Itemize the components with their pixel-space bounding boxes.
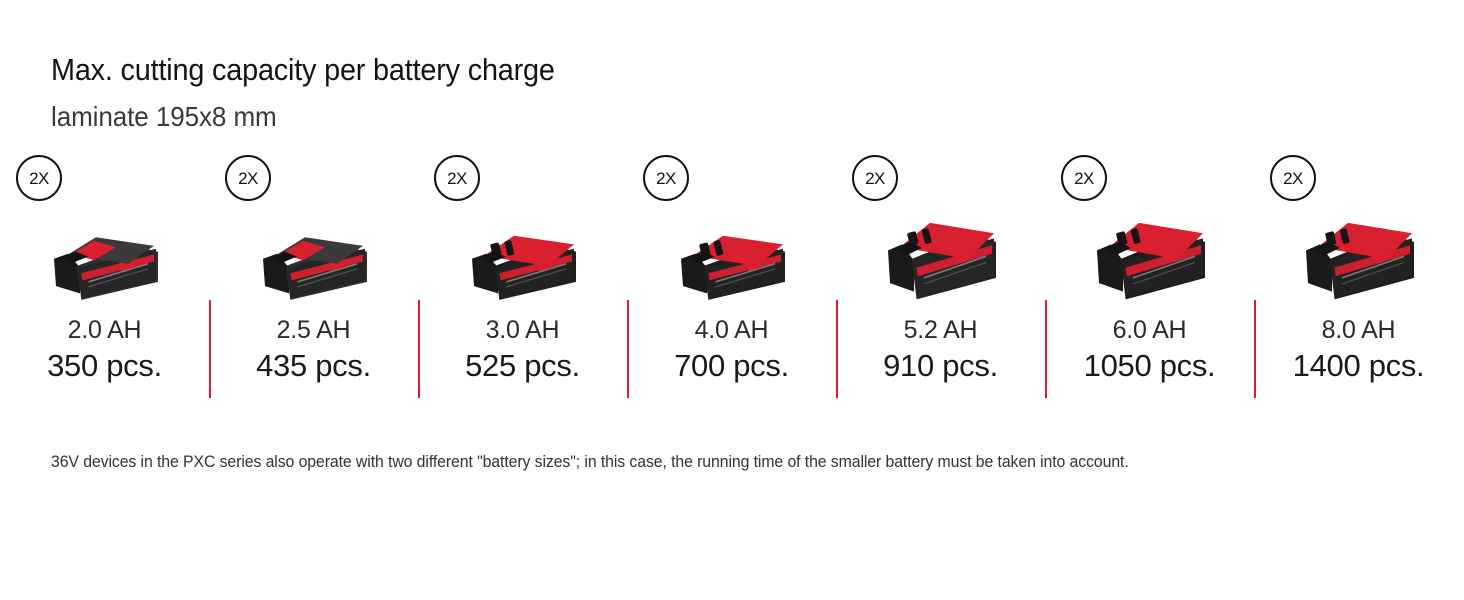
battery-capacity: 2.5 AH [209,315,418,345]
battery-column: 2X 8.0 AH 1400 pcs. [1254,150,1463,400]
battery-labels: 3.0 AH 525 pcs. [418,315,627,385]
battery-column: 2X 4.0 AH 700 pcs. [627,150,836,400]
heading-block: Max. cutting capacity per battery charge… [51,50,593,136]
battery-pieces: 700 pcs. [627,347,836,385]
multiplier-badge: 2X [225,155,271,201]
battery-labels: 2.0 AH 350 pcs. [0,315,209,385]
column-separator [1254,300,1256,398]
column-separator [1045,300,1047,398]
page-title: Max. cutting capacity per battery charge [51,50,555,90]
battery-column: 2X 2.0 AH 350 pcs. [0,150,209,400]
column-separator [418,300,420,398]
battery-image [0,202,209,302]
battery-image [418,202,627,302]
column-separator [627,300,629,398]
battery-capacity: 2.0 AH [0,315,209,345]
battery-image [836,202,1045,302]
battery-capacity: 5.2 AH [836,315,1045,345]
battery-pieces: 1050 pcs. [1045,347,1254,385]
battery-image [627,202,836,302]
battery-labels: 2.5 AH 435 pcs. [209,315,418,385]
battery-pieces: 1400 pcs. [1254,347,1463,385]
multiplier-badge: 2X [1061,155,1107,201]
battery-image [1045,202,1254,302]
column-separator [209,300,211,398]
battery-capacity: 6.0 AH [1045,315,1254,345]
battery-capacity-row: 2X 2.0 AH 350 pcs. 2X [0,150,1464,400]
battery-capacity: 4.0 AH [627,315,836,345]
column-separator [836,300,838,398]
multiplier-badge: 2X [434,155,480,201]
battery-column: 2X 3.0 AH 525 pcs. [418,150,627,400]
battery-column: 2X 6.0 AH 1050 pcs. [1045,150,1254,400]
battery-image [209,202,418,302]
multiplier-badge: 2X [643,155,689,201]
page-subtitle: laminate 195x8 mm [51,98,555,136]
battery-capacity: 8.0 AH [1254,315,1463,345]
battery-labels: 4.0 AH 700 pcs. [627,315,836,385]
battery-image [1254,202,1463,302]
battery-capacity: 3.0 AH [418,315,627,345]
battery-pieces: 910 pcs. [836,347,1045,385]
battery-labels: 6.0 AH 1050 pcs. [1045,315,1254,385]
multiplier-badge: 2X [852,155,898,201]
battery-labels: 8.0 AH 1400 pcs. [1254,315,1463,385]
battery-pieces: 435 pcs. [209,347,418,385]
footnote: 36V devices in the PXC series also opera… [51,452,1318,473]
battery-labels: 5.2 AH 910 pcs. [836,315,1045,385]
battery-pieces: 350 pcs. [0,347,209,385]
battery-column: 2X 5.2 AH 910 pcs. [836,150,1045,400]
battery-pieces: 525 pcs. [418,347,627,385]
multiplier-badge: 2X [1270,155,1316,201]
battery-column: 2X 2.5 AH 435 pcs. [209,150,418,400]
multiplier-badge: 2X [16,155,62,201]
